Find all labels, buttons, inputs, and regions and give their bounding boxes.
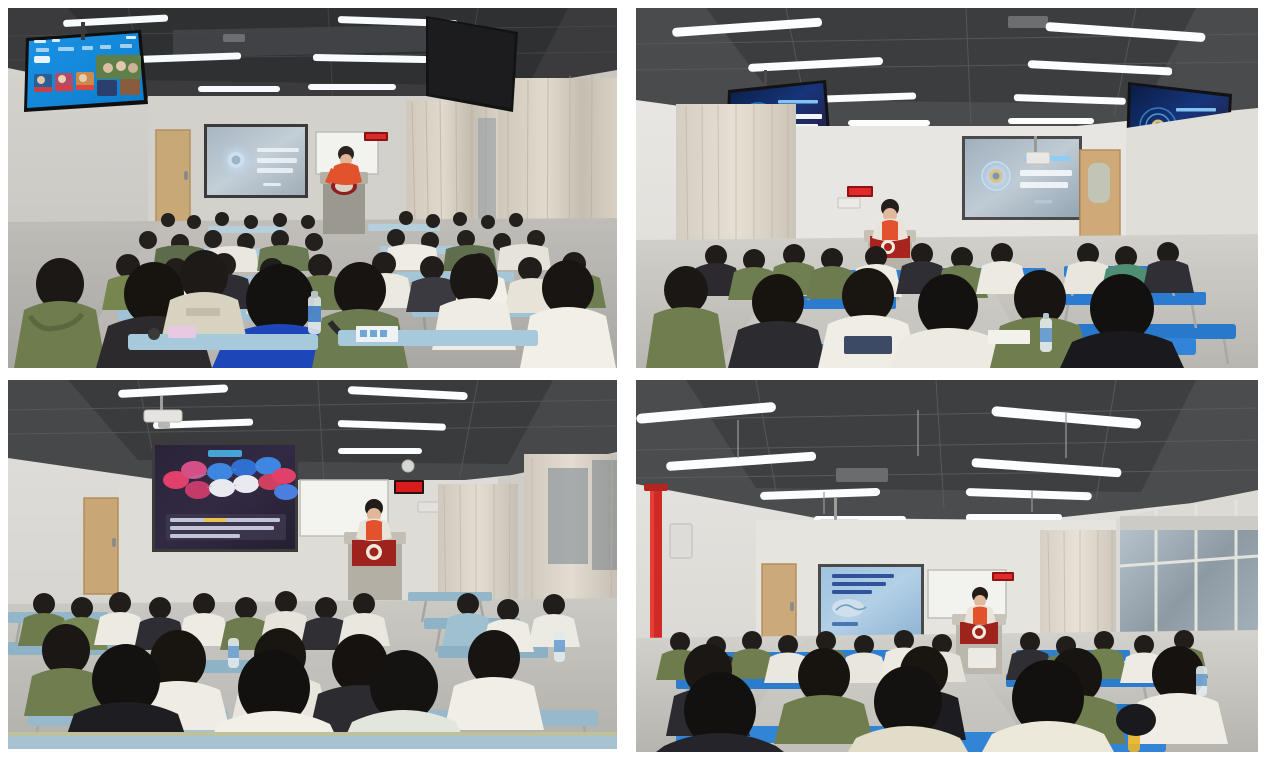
photo-top-right-scene [636,8,1258,368]
photo-bottom-left [8,380,617,749]
water-bottle [554,632,565,662]
backpack [1116,704,1156,736]
photo-bottom-left-scene [8,380,617,749]
collage-cell-top-left [0,0,625,375]
collage-cell-bottom-left [0,375,625,760]
red-led-display [394,480,424,494]
projection-screen-bottom-right [818,564,924,640]
water-bottle [1040,313,1052,352]
photo-top-left-scene [8,8,617,368]
projection-screen-mindmap [152,442,298,552]
photo-bottom-right-scene [636,380,1258,752]
photo-bottom-right [636,380,1258,752]
water-bottle [228,638,239,668]
water-bottle [1196,666,1207,696]
collage-cell-top-right [625,0,1267,375]
collage-cell-bottom-right [625,375,1267,760]
ceiling-tv-streaming [24,30,148,112]
photo-top-right [636,8,1258,368]
water-bottle [308,291,321,334]
photo-collage [0,0,1267,760]
photo-top-left [8,8,617,368]
